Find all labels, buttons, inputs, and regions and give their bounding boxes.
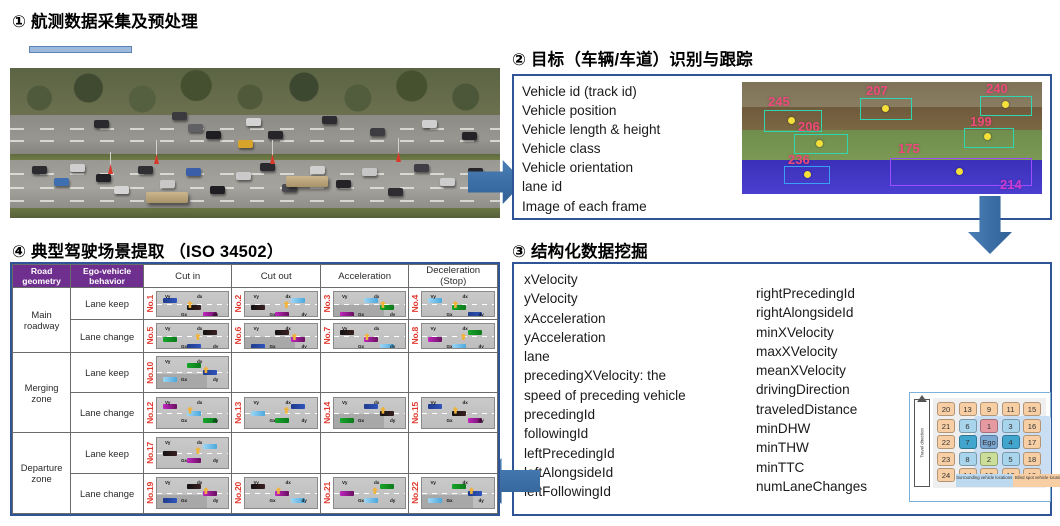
lower-grass	[10, 208, 500, 219]
diagram-label: dy	[301, 344, 306, 349]
diagram-label: dy	[213, 377, 218, 382]
diagram-label: Gx	[358, 344, 364, 349]
data-field: yAcceleration	[524, 328, 746, 347]
detection-id-label: 214	[1000, 178, 1022, 191]
scenario-cell[interactable]: No.2VyGxdxdy	[232, 288, 321, 320]
diagram-label: Vy	[253, 294, 258, 299]
road-geometry-cell: Departurezone	[13, 433, 71, 514]
data-field: rightPrecedingId	[756, 284, 936, 303]
data-field: leftAlongsideId	[524, 463, 746, 482]
diagram-label: Gx	[181, 344, 187, 349]
diagram-label: Vy	[253, 400, 258, 405]
scenario-cell	[232, 433, 321, 473]
ego-behavior-cell: Lane change	[71, 473, 144, 513]
scenario-cell	[320, 352, 409, 392]
diagram-label: dy	[301, 418, 306, 423]
ego-behavior-cell: Lane change	[71, 320, 144, 352]
diagram-label: dy	[213, 312, 218, 317]
table-row: MergingzoneLane keepNo.10VyGxdxdy	[13, 352, 498, 392]
scenario-number-label: No.10	[145, 362, 155, 384]
diagram-label: dx	[374, 294, 379, 299]
geometry-line: zone	[13, 393, 70, 404]
scenario-number-label: No.22	[410, 482, 420, 504]
scenario-cell	[320, 433, 409, 473]
diagram-label: dx	[374, 326, 379, 331]
header-line: Road	[13, 266, 70, 276]
diagram-label: Vy	[253, 326, 258, 331]
data-field: followingId	[524, 424, 746, 443]
attribute-item: Vehicle class	[522, 139, 737, 158]
scenario-table: Road geometry Ego-vehicle behavior Cut i…	[12, 264, 498, 514]
header-line: Deceleration	[409, 265, 497, 276]
diagram-label: dy	[478, 498, 483, 503]
grid-cell-11: 11	[1002, 402, 1020, 416]
scenario-diagram: VyGxdxdy	[156, 397, 230, 429]
ego-behavior-cell: Lane change	[71, 393, 144, 433]
ego-behavior-cell: Lane keep	[71, 352, 144, 392]
header-line: behavior	[71, 276, 143, 286]
scenario-diagram: VyGxdxdy	[156, 477, 230, 509]
grid-cell-23: 23	[937, 452, 955, 466]
header-acceleration: Acceleration	[320, 265, 409, 288]
header-cut-out: Cut out	[232, 265, 321, 288]
diagram-label: dy	[390, 344, 395, 349]
scenario-diagram: VyGxdxdy	[421, 291, 495, 317]
diagram-label: Vy	[430, 400, 435, 405]
grid-cell-5: 5	[1002, 452, 1020, 466]
diagram-label: Gx	[358, 312, 364, 317]
scenario-table-body: MainroadwayLane keepNo.1VyGxdxdyNo.2VyGx…	[13, 288, 498, 514]
diagram-label: dx	[197, 480, 202, 485]
grid-cell-21: 21	[937, 419, 955, 433]
grid-road-background: 2013911152161316227Ego417238251824141012…	[933, 398, 1046, 488]
diagram-label: Vy	[165, 440, 170, 445]
table-row: MainroadwayLane keepNo.1VyGxdxdyNo.2VyGx…	[13, 288, 498, 320]
data-field-list-left: xVelocity yVelocity xAcceleration yAccel…	[524, 270, 746, 502]
diagram-label: Vy	[430, 326, 435, 331]
attribute-item: Vehicle id (track id)	[522, 82, 737, 101]
scenario-number-label: No.8	[410, 327, 420, 344]
data-field: xAcceleration	[524, 309, 746, 328]
scenario-number-label: No.13	[233, 402, 243, 424]
diagram-label: dx	[197, 359, 202, 364]
diagram-label: dx	[462, 400, 467, 405]
scenario-table-panel: Road geometry Ego-vehicle behavior Cut i…	[10, 262, 500, 516]
diagram-label: dy	[213, 498, 218, 503]
section-1-title: ① 航测数据采集及预处理	[12, 8, 198, 32]
header-line: Ego-vehicle	[71, 266, 143, 276]
table-row: Lane changeNo.5VyGxdxdyNo.6VyGxdxdyNo.7V…	[13, 320, 498, 352]
grid-cell-3: 3	[1002, 419, 1020, 433]
diagram-label: dx	[462, 480, 467, 485]
scenario-cell[interactable]: No.15VyGxdxdy	[409, 393, 498, 433]
section-2-title: ② 目标（车辆/车道）识别与跟踪	[512, 46, 753, 70]
scenario-diagram: VyGxdxdy	[244, 323, 318, 349]
scenario-cell	[409, 352, 498, 392]
grid-cell-18: 18	[1023, 452, 1041, 466]
diagram-label: dx	[285, 294, 290, 299]
data-field: meanXVelocity	[756, 361, 936, 380]
detection-id-label: 206	[798, 120, 820, 133]
scenario-cell	[409, 433, 498, 473]
vehicle-attribute-list: Vehicle id (track id) Vehicle position V…	[522, 82, 737, 216]
scenario-diagram: VyGxdxdy	[156, 323, 230, 349]
diagram-label: Gx	[358, 418, 364, 423]
road-geometry-cell: Mergingzone	[13, 352, 71, 433]
header-ego-behavior: Ego-vehicle behavior	[71, 265, 144, 288]
scenario-diagram: VyGxdxdy	[244, 397, 318, 429]
diagram-label: dy	[301, 498, 306, 503]
scenario-diagram: VyGxdxdy	[333, 477, 407, 509]
diagram-label: Gx	[358, 498, 364, 503]
section-3-title: ③ 结构化数据挖掘	[512, 238, 648, 262]
diagram-label: dx	[374, 400, 379, 405]
diagram-label: Gx	[181, 458, 187, 463]
grid-cell-8: 8	[959, 452, 977, 466]
scenario-diagram: VyGxdxdy	[156, 291, 230, 317]
grid-cell-22: 22	[937, 435, 955, 449]
data-field: lane	[524, 347, 746, 366]
scenario-cell[interactable]: No.22VyGxdxdy	[409, 473, 498, 513]
diagram-label: Vy	[165, 480, 170, 485]
scenario-cell[interactable]: No.17VyGxdxdy	[143, 433, 232, 473]
title-accent-bar	[29, 46, 132, 53]
scenario-cell[interactable]: No.14VyGxdxdy	[320, 393, 409, 433]
grid-cell-24: 24	[937, 468, 955, 482]
attribute-item: Vehicle length & height	[522, 120, 737, 139]
diagram-label: Gx	[181, 312, 187, 317]
table-row: DeparturezoneLane keepNo.17VyGxdxdy	[13, 433, 498, 473]
diagram-label: Gx	[446, 418, 452, 423]
diagram-label: Gx	[181, 418, 187, 423]
diagram-label: dy	[301, 312, 306, 317]
scenario-number-label: No.4	[410, 295, 420, 312]
diagram-label: dy	[213, 344, 218, 349]
diagram-label: Vy	[253, 480, 258, 485]
diagram-label: Vy	[165, 326, 170, 331]
diagram-label: Vy	[430, 480, 435, 485]
diagram-label: Vy	[342, 400, 347, 405]
diagram-label: dy	[390, 498, 395, 503]
grid-cell-9: 9	[980, 402, 998, 416]
geometry-line: Merging	[13, 382, 70, 393]
grid-cell-17: 17	[1023, 435, 1041, 449]
data-field: leftPrecedingId	[524, 444, 746, 463]
diagram-label: Gx	[181, 498, 187, 503]
diagram-label: dx	[285, 326, 290, 331]
diagram-label: dx	[197, 440, 202, 445]
diagram-label: Gx	[269, 312, 275, 317]
diagram-label: dy	[213, 418, 218, 423]
legend-blind-spot: Blind spot vehicle locations	[1013, 474, 1060, 487]
diagram-label: dx	[197, 400, 202, 405]
diagram-label: Vy	[165, 400, 170, 405]
data-field: maxXVelocity	[756, 342, 936, 361]
diagram-label: Gx	[446, 312, 452, 317]
scenario-cell[interactable]: No.12VyGxdxdy	[143, 393, 232, 433]
grid-cell-15: 15	[1023, 402, 1041, 416]
attribute-item: Image of each frame	[522, 197, 737, 216]
grid-cell-ego: Ego	[980, 435, 998, 449]
scenario-number-label: No.20	[233, 482, 243, 504]
grid-cell-20: 20	[937, 402, 955, 416]
diagram-label: Vy	[165, 359, 170, 364]
diagram-label: dy	[390, 418, 395, 423]
scenario-number-label: No.14	[322, 402, 332, 424]
scenario-number-label: No.5	[145, 327, 155, 344]
diagram-label: dx	[462, 326, 467, 331]
data-field: rightAlongsideId	[756, 303, 936, 322]
diagram-label: dy	[213, 458, 218, 463]
data-field: yVelocity	[524, 289, 746, 308]
diagram-label: dy	[390, 312, 395, 317]
diagram-label: dy	[478, 344, 483, 349]
scenario-cell[interactable]: No.10VyGxdxdy	[143, 352, 232, 392]
scenario-number-label: No.15	[410, 402, 420, 424]
diagram-label: Vy	[342, 326, 347, 331]
scenario-number-label: No.21	[322, 482, 332, 504]
geometry-line: Main	[13, 309, 70, 320]
section-4-title: ④ 典型驾驶场景提取 （ISO 34502）	[12, 238, 283, 262]
geometry-line: zone	[13, 473, 70, 484]
diagram-label: Gx	[269, 418, 275, 423]
scenario-cell[interactable]: No.8VyGxdxdy	[409, 320, 498, 352]
ego-behavior-cell: Lane keep	[71, 433, 144, 473]
diagram-label: dy	[478, 312, 483, 317]
grid-cell-6: 6	[959, 419, 977, 433]
scenario-number-label: No.3	[322, 295, 332, 312]
diagram-label: Gx	[269, 498, 275, 503]
table-row: Lane changeNo.19VyGxdxdyNo.20VyGxdxdyNo.…	[13, 473, 498, 513]
table-header-row: Road geometry Ego-vehicle behavior Cut i…	[13, 265, 498, 288]
grid-legend: Surrounding vehicle locations Blind spot…	[956, 474, 1060, 487]
data-field: precedingId	[524, 405, 746, 424]
scenario-cell[interactable]: No.3VyGxdxdy	[320, 288, 409, 320]
diagram-label: dx	[197, 326, 202, 331]
header-road-geometry: Road geometry	[13, 265, 71, 288]
table-row: Lane changeNo.12VyGxdxdyNo.13VyGxdxdyNo.…	[13, 393, 498, 433]
grid-cell-13: 13	[959, 402, 977, 416]
header-line: geometry	[13, 276, 70, 286]
scenario-cell[interactable]: No.19VyGxdxdy	[143, 473, 232, 513]
grid-cell-4: 4	[1002, 435, 1020, 449]
diagram-label: Vy	[165, 294, 170, 299]
scenario-number-label: No.6	[233, 327, 243, 344]
grid-cell-7: 7	[959, 435, 977, 449]
data-field: minXVelocity	[756, 323, 936, 342]
scenario-number-label: No.7	[322, 327, 332, 344]
scenario-cell	[232, 352, 321, 392]
diagram-label: Gx	[181, 377, 187, 382]
diagram-label: Gx	[446, 344, 452, 349]
diagram-label: dx	[197, 294, 202, 299]
geometry-line: roadway	[13, 320, 70, 331]
diagram-label: Gx	[269, 344, 275, 349]
legend-surrounding: Surrounding vehicle locations	[956, 474, 1013, 487]
detection-id-label: 175	[898, 142, 920, 155]
ego-behavior-cell: Lane keep	[71, 288, 144, 320]
scenario-cell[interactable]: No.6VyGxdxdy	[232, 320, 321, 352]
detection-id-label: 199	[970, 115, 992, 128]
scenario-number-label: No.19	[145, 482, 155, 504]
diagram-label: Gx	[446, 498, 452, 503]
header-line: (Stop)	[409, 276, 497, 287]
scenario-cell[interactable]: No.21VyGxdxdy	[320, 473, 409, 513]
attribute-item: lane id	[522, 177, 737, 196]
scenario-diagram: VyGxdxdy	[333, 291, 407, 317]
detection-id-label: 207	[866, 84, 888, 97]
detection-id-label: 236	[788, 153, 810, 166]
diagram-label: dx	[374, 480, 379, 485]
aerial-photo	[10, 68, 500, 218]
attribute-item: Vehicle orientation	[522, 158, 737, 177]
geometry-line: Departure	[13, 462, 70, 473]
scenario-diagram: VyGxdxdy	[244, 477, 318, 509]
detection-image: 245 207 240 206 199 236 175 214	[742, 82, 1042, 194]
grid-cell-16: 16	[1023, 419, 1041, 433]
scenario-number-label: No.12	[145, 402, 155, 424]
diagram-label: dx	[285, 400, 290, 405]
scenario-number-label: No.1	[145, 295, 155, 312]
diagram-label: dx	[285, 480, 290, 485]
travel-direction-arrow-icon: Travel direction	[914, 399, 930, 487]
scenario-number-label: No.17	[145, 442, 155, 464]
data-field: xVelocity	[524, 270, 746, 289]
road-geometry-cell: Mainroadway	[13, 288, 71, 353]
scenario-diagram: VyGxdxdy	[421, 397, 495, 429]
diagram-label: dx	[462, 294, 467, 299]
scenario-number-label: No.2	[233, 295, 243, 312]
scenario-cell[interactable]: No.13VyGxdxdy	[232, 393, 321, 433]
diagram-label: Vy	[342, 294, 347, 299]
scenario-diagram: VyGxdxdy	[156, 356, 230, 388]
detection-panel: Vehicle id (track id) Vehicle position V…	[512, 74, 1052, 220]
detection-id-label: 245	[768, 95, 790, 108]
diagram-label: dy	[478, 418, 483, 423]
scenario-cell[interactable]: No.5VyGxdxdy	[143, 320, 232, 352]
data-field: leftFollowingId	[524, 482, 746, 501]
attribute-item: Vehicle position	[522, 101, 737, 120]
scenario-diagram: VyGxdxdy	[244, 291, 318, 317]
surrounding-vehicle-grid: Travel direction 2013911152161316227Ego4…	[909, 392, 1051, 502]
travel-direction-label: Travel direction	[920, 428, 925, 458]
grid-cell-1: 1	[980, 419, 998, 433]
tree-line	[10, 68, 500, 118]
scenario-cell[interactable]: No.7VyGxdxdy	[320, 320, 409, 352]
scenario-diagram: VyGxdxdy	[421, 477, 495, 509]
structured-data-panel: xVelocity yVelocity xAcceleration yAccel…	[512, 262, 1052, 516]
header-deceleration: Deceleration (Stop)	[409, 265, 498, 288]
grid-cell-2: 2	[980, 452, 998, 466]
scenario-cell[interactable]: No.4VyGxdxdy	[409, 288, 498, 320]
data-field-continuation: speed of preceding vehicle	[524, 386, 746, 405]
data-field: precedingXVelocity: the	[524, 366, 746, 385]
scenario-diagram: VyGxdxdy	[333, 397, 407, 429]
diagram-label: Vy	[430, 294, 435, 299]
scenario-diagram: VyGxdxdy	[421, 323, 495, 349]
header-cut-in: Cut in	[143, 265, 232, 288]
detection-id-label: 240	[986, 82, 1008, 95]
scenario-diagram: VyGxdxdy	[156, 437, 230, 469]
diagram-label: Vy	[342, 480, 347, 485]
scenario-cell[interactable]: No.20VyGxdxdy	[232, 473, 321, 513]
scenario-diagram: VyGxdxdy	[333, 323, 407, 349]
scenario-cell[interactable]: No.1VyGxdxdy	[143, 288, 232, 320]
